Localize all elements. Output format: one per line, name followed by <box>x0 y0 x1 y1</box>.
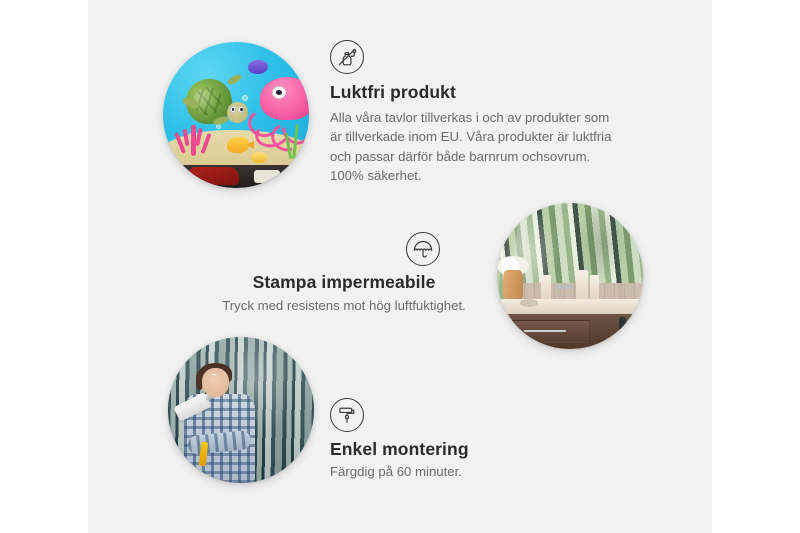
bottle-object <box>541 275 551 303</box>
faucet-object <box>555 285 573 289</box>
bathroom-botanical-wallpaper-photo <box>497 203 643 349</box>
forest-wallpaper-installer-photo <box>168 337 314 483</box>
small-fish-illustration <box>251 152 267 164</box>
product-features-page: Luktfri produkt Alla våra tavlor tillver… <box>0 0 800 533</box>
octopus-illustration <box>251 77 309 153</box>
installer-person <box>180 363 259 483</box>
yellow-fish-illustration <box>227 137 249 153</box>
umbrella-icon <box>406 232 440 266</box>
room-furniture-strip <box>163 165 309 188</box>
feature-description: Tryck med resistens mot hög luftfuktighe… <box>200 296 488 315</box>
feature-title: Luktfri produkt <box>330 82 630 103</box>
feature-block-odourless: Luktfri produkt Alla våra tavlor tillver… <box>330 40 630 185</box>
feature-description: Färgdig på 60 minuter. <box>330 462 630 481</box>
no-fragrance-icon <box>330 40 364 74</box>
feature-title: Stampa impermeabile <box>200 272 488 293</box>
soap-dish-object <box>520 299 538 306</box>
feature-block-easy-install: Enkel montering Färgdig på 60 minuter. <box>330 398 630 481</box>
coral-illustration <box>175 121 213 156</box>
bottle-object <box>590 275 599 303</box>
icon-wrapper <box>200 232 488 266</box>
paint-roller-icon <box>330 398 364 432</box>
feature-title: Enkel montering <box>330 439 630 460</box>
vanity-cabinet <box>503 314 643 349</box>
feature-block-waterproof: Stampa impermeabile Tryck med resistens … <box>200 232 488 315</box>
turtle-illustration <box>186 79 244 124</box>
underwater-kids-mural-photo <box>163 42 309 188</box>
bottle-object <box>576 270 588 302</box>
feature-description: Alla våra tavlor tillverkas i och av pro… <box>330 108 622 185</box>
